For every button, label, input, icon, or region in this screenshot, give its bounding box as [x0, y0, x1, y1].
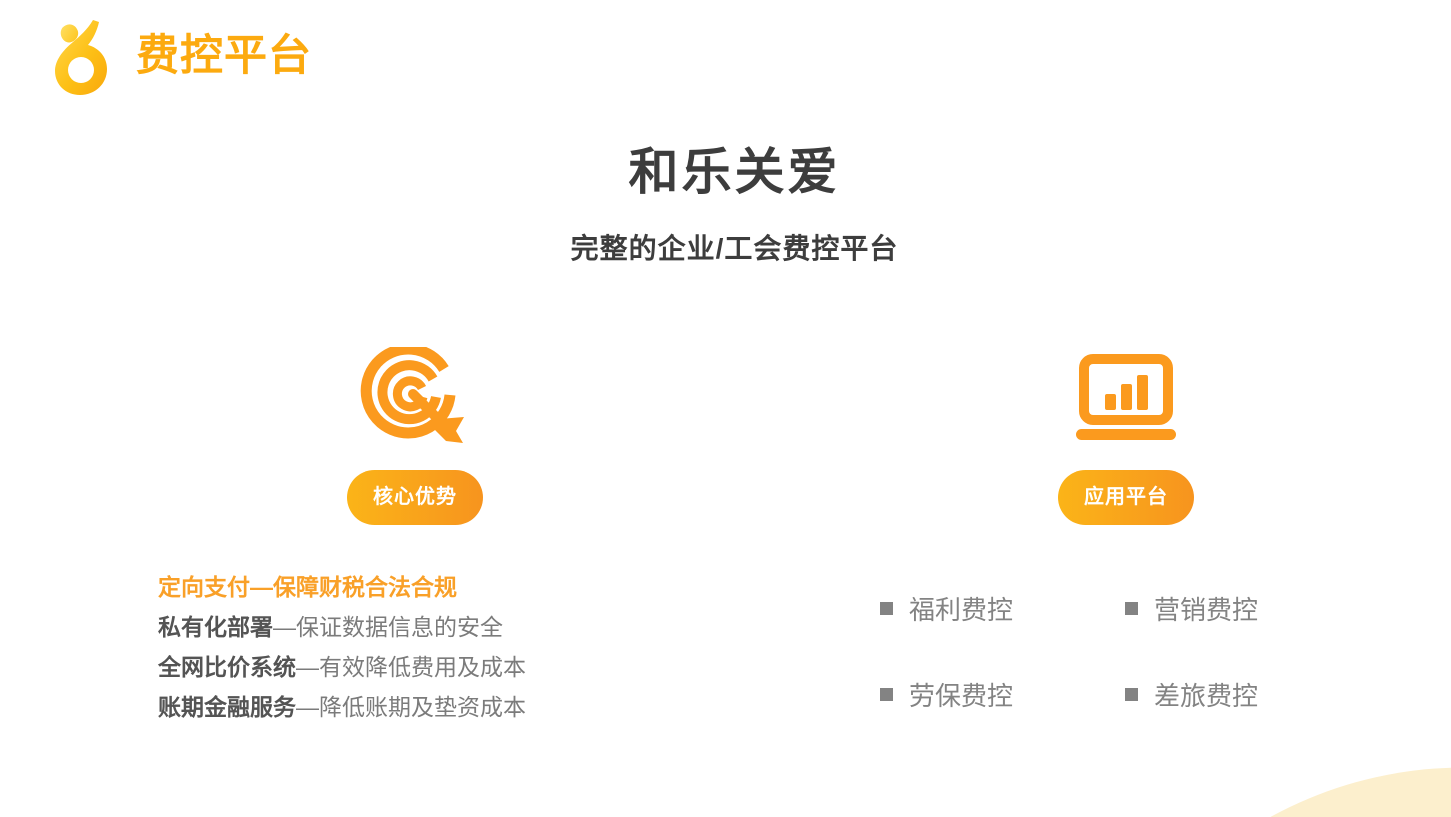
application-platform-badge-row: 应用平台 — [855, 470, 1325, 525]
advantage-strong: 账期金融服务 — [158, 694, 296, 720]
square-bullet-icon — [1125, 688, 1138, 701]
advantage-strong: 私有化部署 — [158, 614, 273, 640]
page-title: 和乐关爱 — [18, 142, 1451, 202]
platform-item-label: 差旅费控 — [1154, 676, 1258, 713]
platform-items-grid: 福利费控 营销费控 劳保费控 差旅费控 — [855, 565, 1325, 737]
page-subtitle: 完整的企业/工会费控平台 — [18, 232, 1451, 266]
advantages-list: 定向支付—保障财税合法合规 私有化部署—保证数据信息的安全 全网比价系统—有效降… — [120, 567, 620, 727]
platform-item[interactable]: 差旅费控 — [1125, 651, 1370, 737]
decorative-blob — [1026, 740, 1451, 817]
laptop-bar-chart-icon — [1074, 354, 1178, 446]
advantage-item: 全网比价系统—有效降低费用及成本 — [158, 647, 620, 687]
square-bullet-icon — [880, 602, 893, 615]
droplet-six-logo-icon — [46, 16, 122, 96]
laptop-icon-wrapper — [855, 340, 1325, 460]
square-bullet-icon — [1125, 602, 1138, 615]
headline-block: 和乐关爱 完整的企业/工会费控平台 — [0, 142, 1451, 266]
advantage-rest: —保障财税合法合规 — [250, 574, 457, 600]
application-platform-badge[interactable]: 应用平台 — [1058, 470, 1194, 525]
core-advantages-badge[interactable]: 核心优势 — [347, 470, 483, 525]
advantage-item: 定向支付—保障财税合法合规 — [158, 567, 620, 607]
slide-canvas: 费控平台 和乐关爱 完整的企业/工会费控平台 — [0, 0, 1451, 817]
square-bullet-icon — [880, 688, 893, 701]
advantage-strong: 定向支付 — [158, 574, 250, 600]
brand-name: 费控平台 — [136, 35, 312, 78]
platform-item[interactable]: 劳保费控 — [880, 651, 1125, 737]
advantage-rest: —有效降低费用及成本 — [296, 654, 526, 680]
advantage-item: 私有化部署—保证数据信息的安全 — [158, 607, 620, 647]
platform-item[interactable]: 福利费控 — [880, 565, 1125, 651]
column-core-advantages: 核心优势 定向支付—保障财税合法合规 私有化部署—保证数据信息的安全 全网比价系… — [120, 340, 620, 727]
target-icon-wrapper — [120, 340, 620, 460]
advantage-item: 账期金融服务—降低账期及垫资成本 — [158, 687, 620, 727]
advantage-rest: —保证数据信息的安全 — [273, 614, 503, 640]
platform-item-label: 营销费控 — [1154, 590, 1258, 627]
platform-item-label: 福利费控 — [909, 590, 1013, 627]
platform-item-label: 劳保费控 — [909, 676, 1013, 713]
advantage-strong: 全网比价系统 — [158, 654, 296, 680]
brand-logo: 费控平台 — [46, 16, 312, 96]
advantage-rest: —降低账期及垫资成本 — [296, 694, 526, 720]
target-arrow-icon — [360, 347, 472, 453]
column-application-platform: 应用平台 福利费控 营销费控 劳保费控 差旅费控 — [855, 340, 1325, 737]
core-advantages-badge-row: 核心优势 — [120, 470, 620, 525]
platform-item[interactable]: 营销费控 — [1125, 565, 1370, 651]
